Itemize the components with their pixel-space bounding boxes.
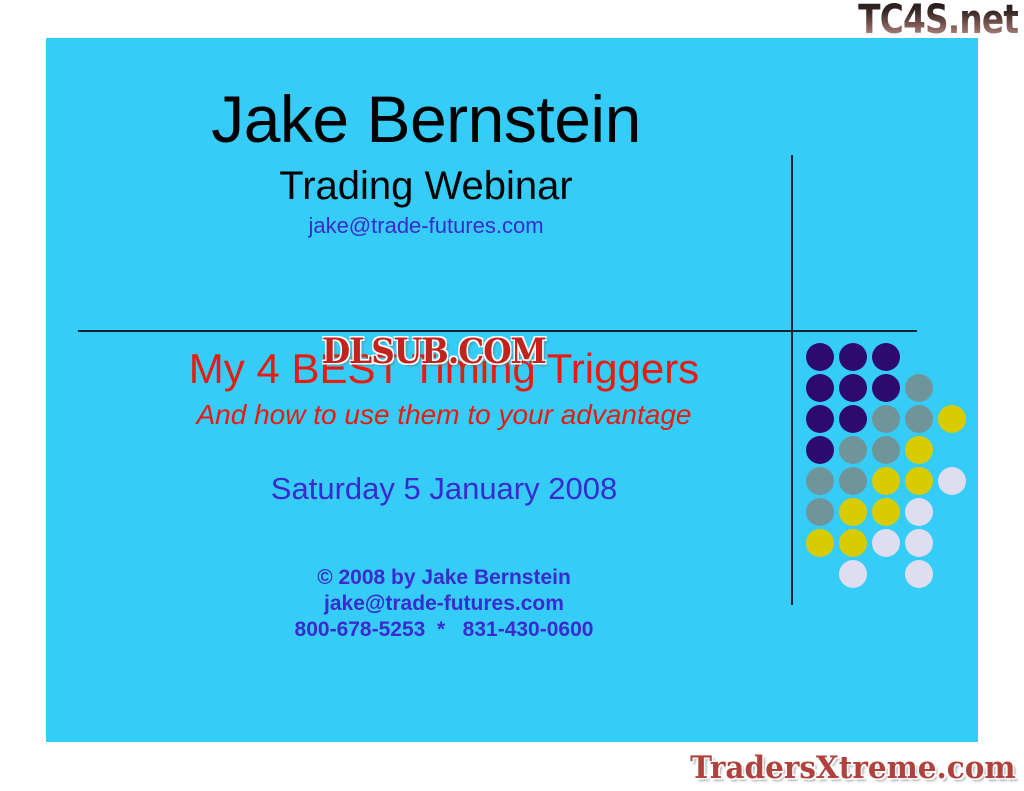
dot-gray — [806, 467, 834, 495]
dot-navy — [839, 374, 867, 402]
dot-yellow — [872, 498, 900, 526]
dot-yellow — [905, 467, 933, 495]
event-date: Saturday 5 January 2008 — [64, 473, 824, 504]
dot-white — [905, 498, 933, 526]
slide-subtitle: Trading Webinar — [46, 166, 806, 206]
dot-white — [839, 560, 867, 588]
dot-gray — [839, 467, 867, 495]
dot-gray — [905, 405, 933, 433]
watermark-tc4s: TC4S.net — [858, 0, 1018, 42]
dot-navy — [872, 343, 900, 371]
dot-white — [905, 560, 933, 588]
dot-navy — [806, 405, 834, 433]
dot-yellow — [938, 405, 966, 433]
dot-gray — [905, 374, 933, 402]
slide-title: Jake Bernstein — [46, 86, 806, 152]
presenter-email: jake@trade-futures.com — [46, 215, 806, 237]
dot-navy — [839, 343, 867, 371]
dot-gray — [872, 405, 900, 433]
dot-navy — [806, 436, 834, 464]
contact-phone-line: 800-678-5253 * 831-430-0600 — [64, 617, 824, 643]
dot-white — [872, 529, 900, 557]
dot-navy — [839, 405, 867, 433]
dot-yellow — [806, 529, 834, 557]
copyright-line: © 2008 by Jake Bernstein — [64, 565, 824, 591]
dot-yellow — [839, 529, 867, 557]
watermark-tradersxtreme: TradersXtreme.com — [691, 749, 1016, 787]
dot-yellow — [905, 436, 933, 464]
dot-navy — [806, 343, 834, 371]
contact-email-line: jake@trade-futures.com — [64, 591, 824, 617]
contact-block: © 2008 by Jake Bernstein jake@trade-futu… — [64, 565, 824, 643]
dot-white — [938, 467, 966, 495]
dot-white — [905, 529, 933, 557]
slide-page: Jake Bernstein Trading Webinar jake@trad… — [0, 0, 1024, 791]
dot-gray — [839, 436, 867, 464]
dot-gray — [872, 436, 900, 464]
promo-subheadline: And how to use them to your advantage — [64, 401, 824, 429]
decorative-dot-grid — [806, 343, 976, 598]
dot-navy — [806, 374, 834, 402]
dot-gray — [806, 498, 834, 526]
watermark-dlsub: DLSUB.COM — [322, 332, 546, 372]
dot-yellow — [872, 467, 900, 495]
dot-navy — [872, 374, 900, 402]
dot-yellow — [839, 498, 867, 526]
presentation-slide: Jake Bernstein Trading Webinar jake@trad… — [46, 38, 978, 742]
